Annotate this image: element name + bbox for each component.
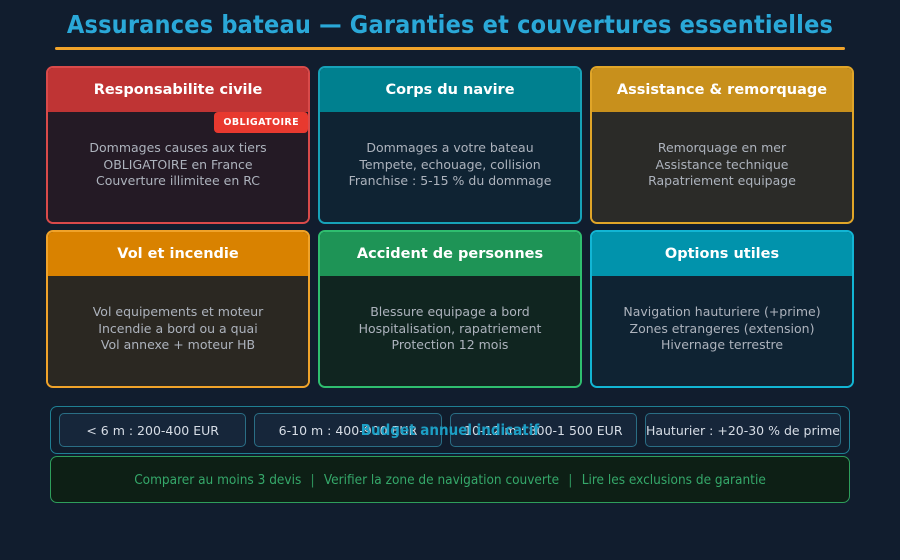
card-header: Assistance & remorquage xyxy=(592,68,852,112)
card-detail-line: Assistance technique xyxy=(648,157,796,174)
card-body: Remorquage en merAssistance techniqueRap… xyxy=(592,112,852,222)
card-title: Responsabilite civile xyxy=(94,82,263,98)
footer-tip: Lire les exclusions de garantie xyxy=(582,472,766,488)
price-chip: 10-12 m : 800-1 500 EUR xyxy=(450,413,637,447)
title-block: Assurances bateau — Garanties et couvert… xyxy=(0,0,900,50)
coverage-card: Options utilesNavigation hauturiere (+pr… xyxy=(590,230,854,388)
card-detail-line: Hivernage terrestre xyxy=(623,337,820,354)
price-chip: Hauturier : +20-30 % de prime xyxy=(645,413,841,447)
coverage-card-grid: Responsabilite civileOBLIGATOIREDommages… xyxy=(46,66,854,388)
card-detail-lines: Vol equipements et moteurIncendie a bord… xyxy=(93,304,264,354)
card-body: Vol equipements et moteurIncendie a bord… xyxy=(48,276,308,386)
card-detail-line: OBLIGATOIRE en France xyxy=(89,157,266,174)
title-underline-rule xyxy=(55,47,845,50)
card-detail-line: Protection 12 mois xyxy=(359,337,542,354)
card-header: Corps du navire xyxy=(320,68,580,112)
price-chip: 6-10 m : 400-900 EUR xyxy=(254,413,441,447)
card-detail-lines: Remorquage en merAssistance techniqueRap… xyxy=(648,140,796,190)
card-detail-lines: Dommages causes aux tiersOBLIGATOIRE en … xyxy=(89,140,266,190)
card-detail-line: Hospitalisation, rapatriement xyxy=(359,321,542,338)
coverage-card: Responsabilite civileOBLIGATOIREDommages… xyxy=(46,66,310,224)
pricing-strip: < 6 m : 200-400 EUR6-10 m : 400-900 EUR1… xyxy=(50,406,850,454)
card-body: Dommages a votre bateauTempete, echouage… xyxy=(320,112,580,222)
card-header: Responsabilite civile xyxy=(48,68,308,112)
card-detail-line: Couverture illimitee en RC xyxy=(89,173,266,190)
card-detail-line: Dommages causes aux tiers xyxy=(89,140,266,157)
card-detail-line: Dommages a votre bateau xyxy=(349,140,552,157)
footer-tip: Comparer au moins 3 devis xyxy=(134,472,301,488)
card-title: Vol et incendie xyxy=(117,246,238,262)
card-detail-line: Franchise : 5-15 % du dommage xyxy=(349,173,552,190)
card-detail-line: Vol equipements et moteur xyxy=(93,304,264,321)
card-header: Options utiles xyxy=(592,232,852,276)
card-detail-line: Vol annexe + moteur HB xyxy=(93,337,264,354)
card-body: Navigation hauturiere (+prime)Zones etra… xyxy=(592,276,852,386)
coverage-card: Corps du navireDommages a votre bateauTe… xyxy=(318,66,582,224)
card-header: Accident de personnes xyxy=(320,232,580,276)
card-header: Vol et incendie xyxy=(48,232,308,276)
card-detail-line: Rapatriement equipage xyxy=(648,173,796,190)
coverage-card: Accident de personnesBlessure equipage a… xyxy=(318,230,582,388)
card-body: OBLIGATOIREDommages causes aux tiersOBLI… xyxy=(48,112,308,222)
page-title: Assurances bateau — Garanties et couvert… xyxy=(0,8,900,42)
footer-separator: | xyxy=(568,472,573,488)
coverage-card: Vol et incendieVol equipements et moteur… xyxy=(46,230,310,388)
card-detail-lines: Navigation hauturiere (+prime)Zones etra… xyxy=(623,304,820,354)
card-title: Options utiles xyxy=(665,246,779,262)
card-detail-line: Zones etrangeres (extension) xyxy=(623,321,820,338)
footer-separator: | xyxy=(310,472,315,488)
card-detail-line: Blessure equipage a bord xyxy=(359,304,542,321)
card-detail-line: Remorquage en mer xyxy=(648,140,796,157)
card-title: Assistance & remorquage xyxy=(617,82,827,98)
card-detail-lines: Blessure equipage a bordHospitalisation,… xyxy=(359,304,542,354)
card-title: Accident de personnes xyxy=(357,246,543,262)
footer-tips-bar: Comparer au moins 3 devis|Verifier la zo… xyxy=(50,456,850,503)
card-detail-line: Incendie a bord ou a quai xyxy=(93,321,264,338)
card-body: Blessure equipage a bordHospitalisation,… xyxy=(320,276,580,386)
price-chip: < 6 m : 200-400 EUR xyxy=(59,413,246,447)
card-detail-line: Navigation hauturiere (+prime) xyxy=(623,304,820,321)
coverage-card: Assistance & remorquageRemorquage en mer… xyxy=(590,66,854,224)
card-detail-lines: Dommages a votre bateauTempete, echouage… xyxy=(349,140,552,190)
footer-tip: Verifier la zone de navigation couverte xyxy=(324,472,559,488)
card-detail-line: Tempete, echouage, collision xyxy=(349,157,552,174)
card-title: Corps du navire xyxy=(385,82,514,98)
status-badge: OBLIGATOIRE xyxy=(214,112,308,133)
